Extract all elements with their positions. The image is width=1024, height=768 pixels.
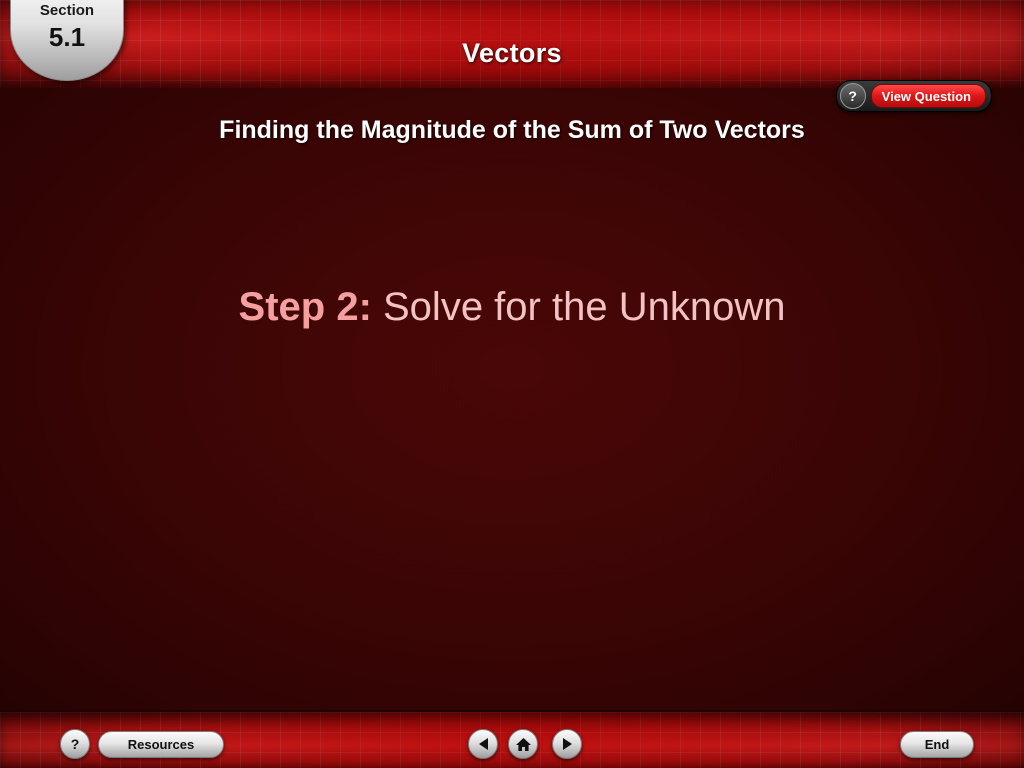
step-heading: Step 2: Solve for the Unknown bbox=[0, 285, 1024, 330]
question-mark-icon: ? bbox=[840, 83, 866, 109]
view-question-button[interactable]: ? View Question bbox=[836, 80, 992, 112]
resources-button[interactable]: Resources bbox=[98, 731, 224, 758]
slide-body: Finding the Magnitude of the Sum of Two … bbox=[0, 88, 1024, 710]
help-button[interactable]: ? bbox=[60, 729, 90, 759]
slide-subtitle: Finding the Magnitude of the Sum of Two … bbox=[0, 116, 1024, 145]
presentation-slide: Vectors Section 5.1 Finding the Magnitud… bbox=[0, 0, 1024, 768]
section-label: Section bbox=[11, 2, 123, 19]
home-icon bbox=[515, 737, 532, 752]
triangle-left-icon bbox=[479, 738, 488, 750]
step-text: Solve for the Unknown bbox=[372, 285, 786, 329]
triangle-right-icon bbox=[563, 738, 572, 750]
section-number: 5.1 bbox=[11, 22, 123, 53]
home-button[interactable] bbox=[508, 729, 538, 759]
end-button[interactable]: End bbox=[900, 731, 974, 758]
previous-slide-button[interactable] bbox=[468, 729, 498, 759]
page-title: Vectors bbox=[0, 38, 1024, 69]
next-slide-button[interactable] bbox=[552, 729, 582, 759]
view-question-label: View Question bbox=[871, 84, 986, 108]
step-label: Step 2: bbox=[239, 285, 372, 329]
